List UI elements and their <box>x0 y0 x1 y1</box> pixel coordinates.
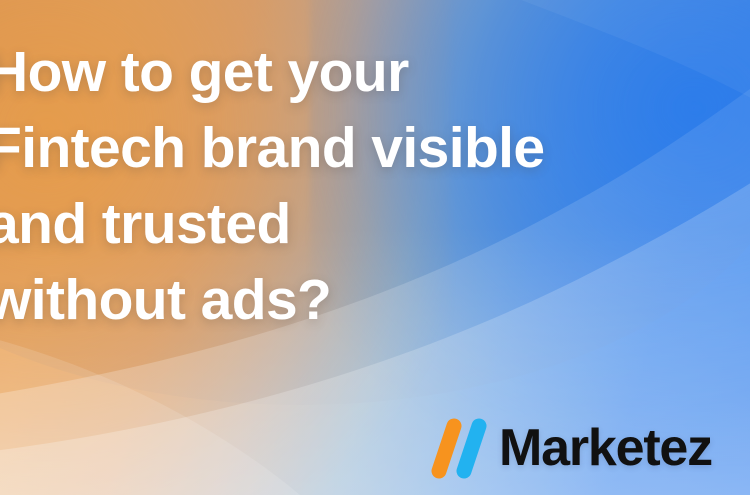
headline-line-3: and trusted <box>0 186 687 262</box>
logo-wordmark: Marketez <box>499 422 712 474</box>
headline-line-4: without ads? <box>0 262 687 338</box>
marketing-banner: How to get your Fintech brand visible an… <box>0 0 750 495</box>
headline: How to get your Fintech brand visible an… <box>0 34 687 338</box>
double-slash-mark-icon <box>424 417 490 479</box>
headline-line-2: Fintech brand visible <box>0 110 687 186</box>
headline-line-1: How to get your <box>0 34 687 110</box>
logo-lockup: Marketez <box>424 413 712 483</box>
